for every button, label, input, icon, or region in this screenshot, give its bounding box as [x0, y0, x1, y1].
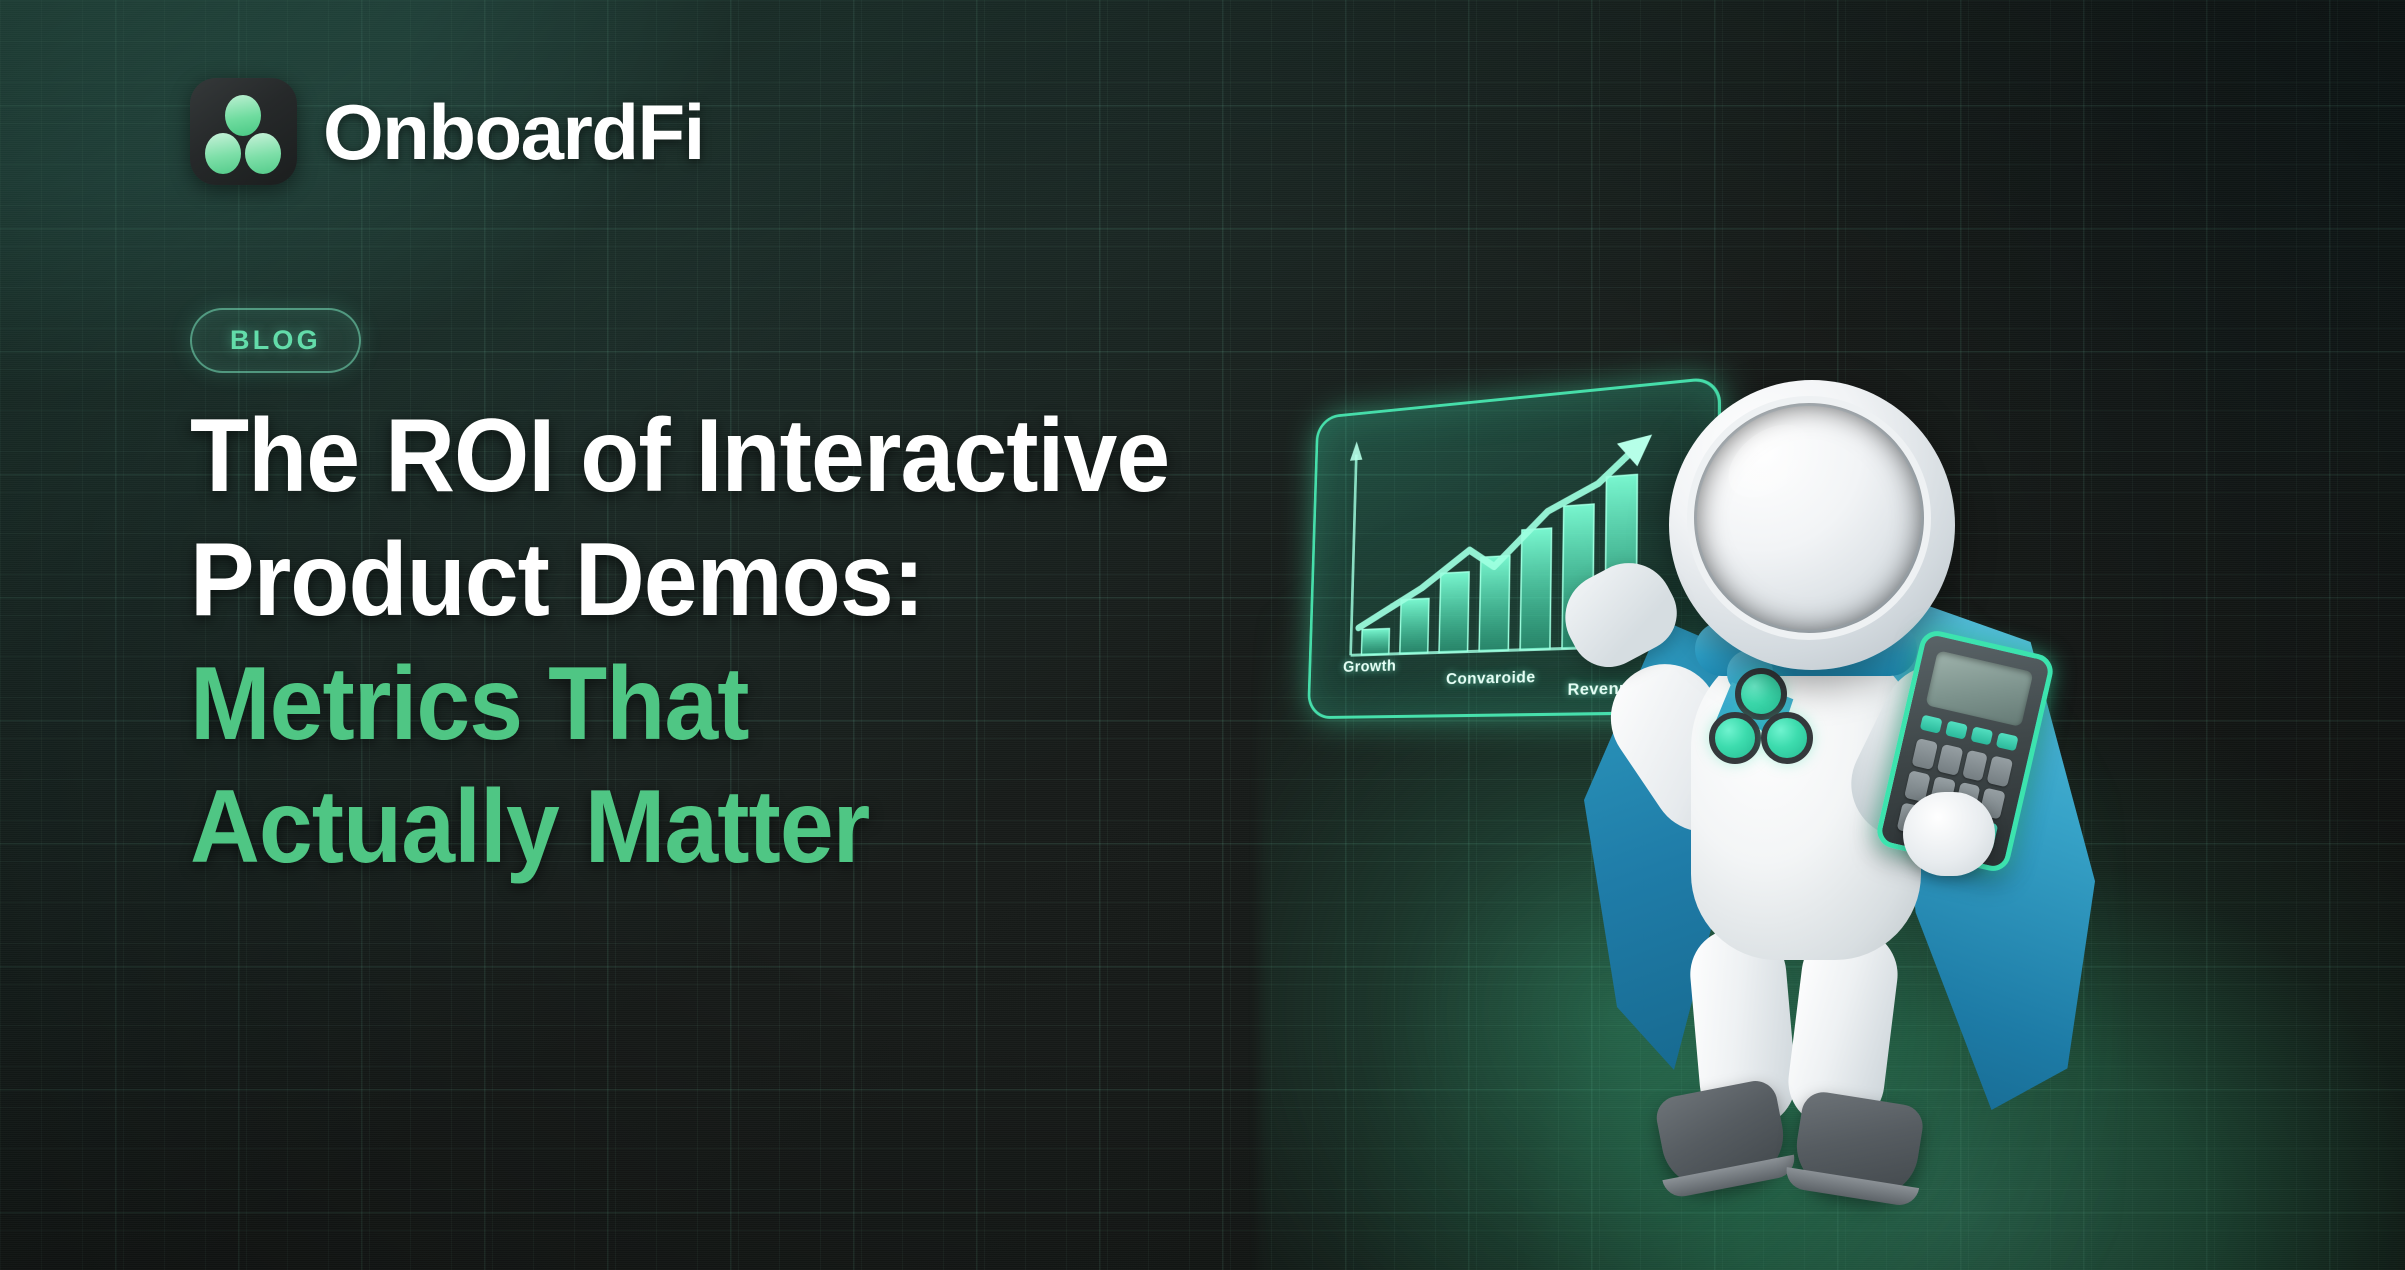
boot-left: [1653, 1077, 1791, 1195]
hero-banner: OnboardFi BLOG The ROI of Interactive Pr…: [0, 0, 2405, 1270]
boot-sole-left: [1662, 1155, 1797, 1200]
astronaut-illustration: Growth Convaroide Revenue: [1320, 340, 2320, 1270]
brand-logo[interactable]: OnboardFi: [190, 78, 704, 185]
calculator-key: [1996, 732, 2019, 751]
chart-label-convaroide: Convaroide: [1446, 669, 1536, 689]
headline-line-1: The ROI of Interactive: [190, 395, 1390, 519]
logo-dot-bottom-left: [205, 133, 241, 174]
page-title: The ROI of Interactive Product Demos: Me…: [190, 395, 1390, 890]
calculator-button: [1962, 750, 1989, 782]
calculator-key: [1920, 715, 1943, 734]
boot-sole-right: [1784, 1167, 1919, 1208]
three-circles-logo-icon: [190, 78, 297, 185]
calculator-key: [1970, 726, 1993, 745]
headline-line-3: Metrics That: [190, 643, 1390, 767]
boot-right: [1790, 1089, 1926, 1203]
brand-name: OnboardFi: [323, 93, 704, 171]
category-badge-blog[interactable]: BLOG: [190, 308, 361, 373]
logo-dot-top: [225, 95, 261, 136]
headline-line-4: Actually Matter: [190, 766, 1390, 890]
badge-label: BLOG: [230, 325, 321, 356]
calculator-key: [1945, 720, 1968, 739]
calculator-button: [1936, 744, 1963, 776]
calculator-screen: [1925, 650, 2033, 727]
chest-logo-dot-right: [1761, 712, 1813, 764]
headline-line-2: Product Demos:: [190, 519, 1390, 643]
astronaut-mascot: [1545, 340, 2105, 1270]
visor-ring: [1687, 396, 1931, 640]
hand-holding-calculator: [1903, 792, 1995, 876]
calculator-button: [1987, 755, 2014, 787]
chart-label-growth: Growth: [1343, 658, 1397, 677]
logo-dot-bottom-right: [245, 133, 281, 174]
calculator-button: [1911, 738, 1938, 770]
chest-logo-dot-left: [1709, 712, 1761, 764]
